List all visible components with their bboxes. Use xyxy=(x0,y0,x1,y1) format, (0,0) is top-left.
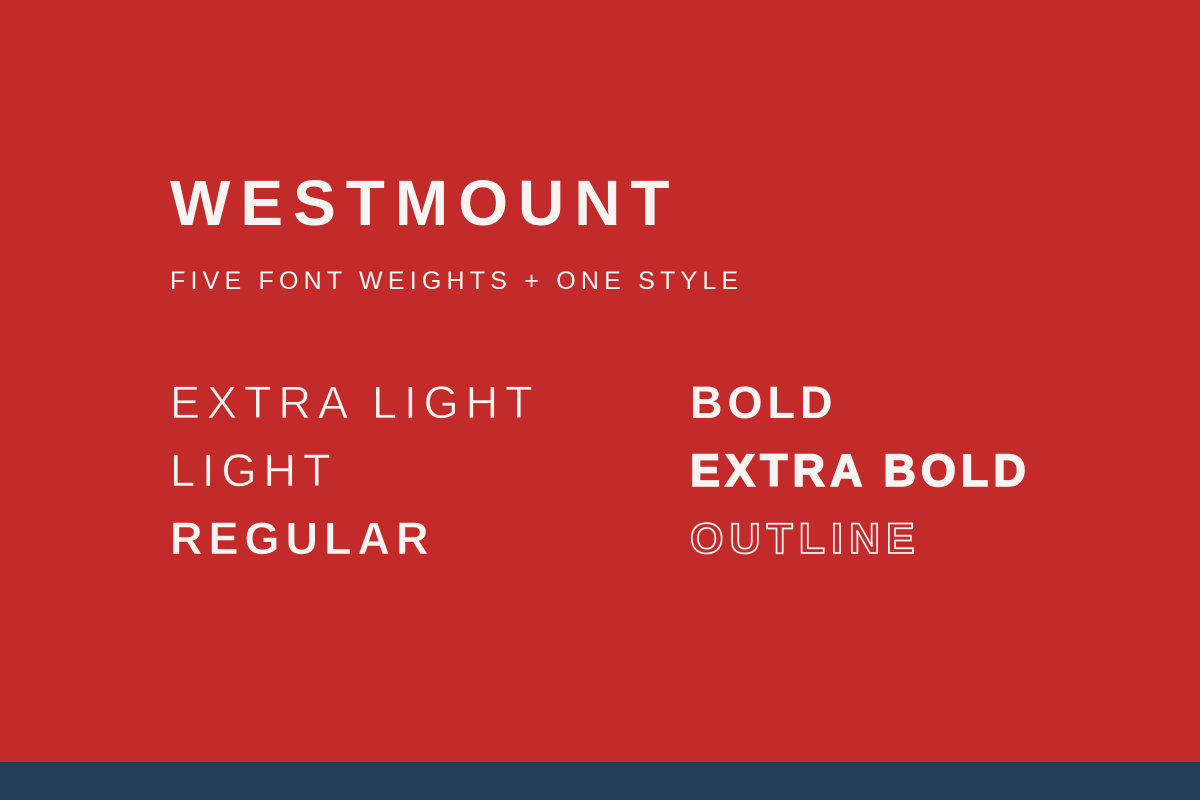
font-specimen-poster: WESTMOUNT FIVE FONT WEIGHTS + ONE STYLE … xyxy=(0,0,1200,800)
subtitle: FIVE FONT WEIGHTS + ONE STYLE xyxy=(170,238,743,295)
weight-sample-outline: OUTLINE xyxy=(690,514,1130,564)
weight-sample-regular: REGULAR xyxy=(170,514,690,564)
weights-grid: EXTRA LIGHT BOLD LIGHT EXTRA BOLD REGULA… xyxy=(170,378,1130,582)
header-block: WESTMOUNT FIVE FONT WEIGHTS + ONE STYLE xyxy=(170,168,743,295)
weight-sample-bold: BOLD xyxy=(690,378,1130,428)
weight-sample-light: LIGHT xyxy=(170,446,690,496)
page-title: WESTMOUNT xyxy=(170,168,743,238)
weight-sample-extra-light: EXTRA LIGHT xyxy=(170,378,690,428)
weight-sample-extra-bold: EXTRA BOLD xyxy=(690,446,1130,496)
bottom-accent-band xyxy=(0,762,1200,800)
